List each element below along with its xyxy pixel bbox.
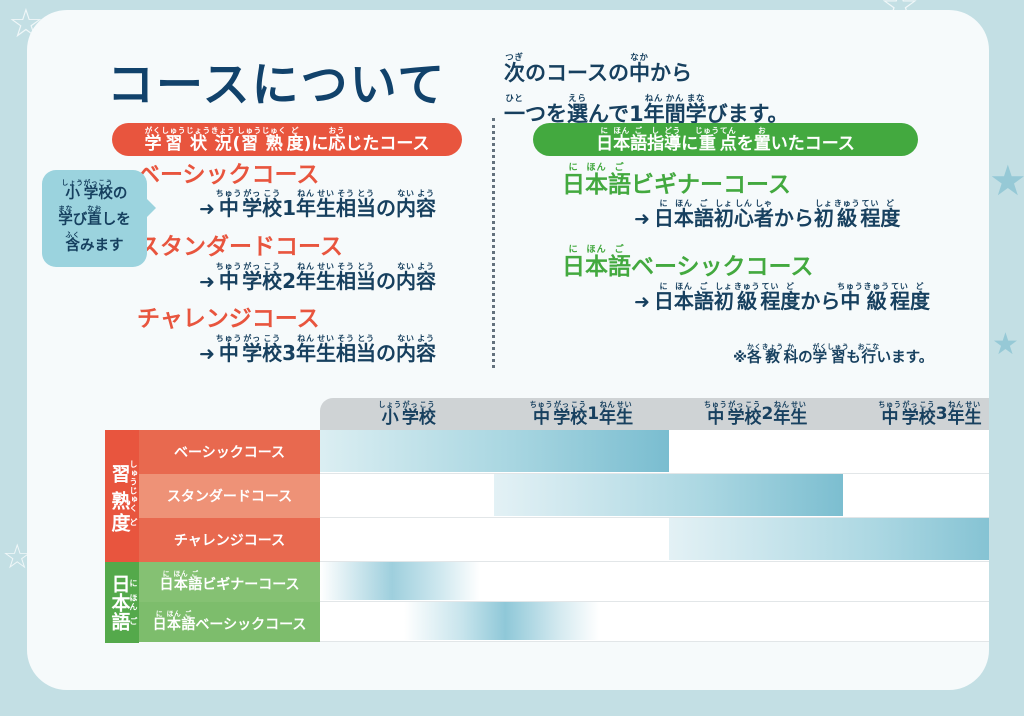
course-name: 日に本ほん語ごビギナーコース [562,162,930,198]
course-item: 日に本ほん語ごビギナーコース ➜日に本ほん語ご初しょ心しん者しゃから初しょ級きゅ… [562,162,930,231]
course-item: 日に本ほん語ごベーシックコース ➜日に本ほん語ご初しょ級きゅう程てい度どから中ち… [562,244,930,313]
bubble-line-3: 含ふくみます [48,231,141,257]
matrix-row: 日に本ほん語ごベーシックコース [105,602,989,642]
star-decoration: ★ [989,160,1024,202]
matrix-bar [494,474,843,516]
matrix-row-label: 日に本ほん語ごベーシックコース [139,602,320,642]
matrix-row-label: 日に本ほん語ごビギナーコース [139,562,320,602]
course-item: チャレンジコース ➜中ちゅう学がっ校こう3年ねん生せい相そう当とうの内ない容よう [137,306,436,365]
speech-bubble-elementary-review: 小しょう学がっ校こうの 学まなび直なおしを 含ふくみます [42,170,147,267]
section-divider [492,118,495,368]
star-decoration: ★ [992,330,1019,360]
bubble-line-2: 学まなび直なおしを [48,205,141,231]
course-name: スタンダードコース [137,234,436,260]
main-card: コースについて 次つぎのコースの中なかから 一ひとつを選えらんで1年ねん間かん学… [27,10,989,690]
matrix-track [320,430,989,474]
matrix-body: 習しゅう熟じゅく度ど ベーシックコース スタンダードコース チャレンジコース [105,430,989,642]
course-name: 日に本ほん語ごベーシックコース [562,244,930,280]
arrow-icon: ➜ [199,198,215,220]
matrix-bar [669,518,990,560]
matrix-bar [404,602,599,640]
matrix-header-cell: 中ちゅう学がっ校こう3年ねん生せい [843,398,989,430]
course-item: ベーシックコース ➜中ちゅう学がっ校こう1年ねん生せい相そう当とうの内ない容よう [137,162,436,221]
intro-line-2: 一ひとつを選えらんで1年ねん間かん学まなびます。 [504,93,788,125]
matrix-header-row: 小しょう学がっ校こう 中ちゅう学がっ校こう1年ねん生せい 中ちゅう学がっ校こう2… [320,398,989,430]
course-list-japanese: 日に本ほん語ごビギナーコース ➜日に本ほん語ご初しょ心しん者しゃから初しょ級きゅ… [562,162,930,326]
arrow-icon: ➜ [199,271,215,293]
matrix-row-label: スタンダードコース [139,474,320,518]
matrix-row: チャレンジコース [105,518,989,562]
matrix-row-label: ベーシックコース [139,430,320,474]
banner-japanese: 日に本ほん語ご指し導どうに重じゅう点てんを置おいたコース [533,123,918,156]
course-name: チャレンジコース [137,306,436,332]
page-title: コースについて [107,46,446,115]
matrix-header-cell: 中ちゅう学がっ校こう2年ねん生せい [669,398,843,430]
course-description: ➜中ちゅう学がっ校こう3年ねん生せい相そう当とうの内ない容よう [199,334,436,366]
matrix-bar [320,562,480,600]
matrix-header-cell: 中ちゅう学がっ校こう1年ねん生せい [494,398,668,430]
course-matrix-table: 小しょう学がっ校こう 中ちゅう学がっ校こう1年ねん生せい 中ちゅう学がっ校こう2… [105,398,989,648]
matrix-bar [320,430,669,472]
course-description: ➜日に本ほん語ご初しょ級きゅう程てい度どから中ちゅう級きゅう程てい度ど [634,282,930,314]
course-name: ベーシックコース [137,162,436,188]
matrix-track [320,562,989,602]
matrix-row: 習しゅう熟じゅく度ど ベーシックコース [105,430,989,474]
matrix-row-label: チャレンジコース [139,518,320,562]
footnote: ※各かく教きょう科かの学がく習しゅうも行おこないます。 [733,343,933,367]
arrow-icon: ➜ [199,343,215,365]
bubble-line-1: 小しょう学がっ校こうの [48,179,141,205]
matrix-header-cell: 小しょう学がっ校こう [320,398,494,430]
course-description: ➜中ちゅう学がっ校こう2年ねん生せい相そう当とうの内ない容よう [199,262,436,294]
matrix-row: スタンダードコース [105,474,989,518]
banner-proficiency: 学がく習しゅう状じょう況きょう(習しゅう熟じゅく度ど)に応おうじたコース [112,123,462,156]
intro-text: 次つぎのコースの中なかから 一ひとつを選えらんで1年ねん間かん学まなびます。 [504,52,788,134]
matrix-track [320,518,989,562]
arrow-icon: ➜ [634,208,650,230]
course-description: ➜中ちゅう学がっ校こう1年ねん生せい相そう当とうの内ない容よう [199,189,436,221]
arrow-icon: ➜ [634,291,650,313]
course-list-proficiency: ベーシックコース ➜中ちゅう学がっ校こう1年ねん生せい相そう当とうの内ない容よう… [137,162,436,379]
matrix-row: 日に本ほん語ご 日に本ほん語ごビギナーコース [105,562,989,602]
course-description: ➜日に本ほん語ご初しょ心しん者しゃから初しょ級きゅう程てい度ど [634,199,930,231]
course-item: スタンダードコース ➜中ちゅう学がっ校こう2年ねん生せい相そう当とうの内ない容よ… [137,234,436,293]
matrix-track [320,602,989,642]
matrix-track [320,474,989,518]
intro-line-1: 次つぎのコースの中なかから [504,52,788,84]
